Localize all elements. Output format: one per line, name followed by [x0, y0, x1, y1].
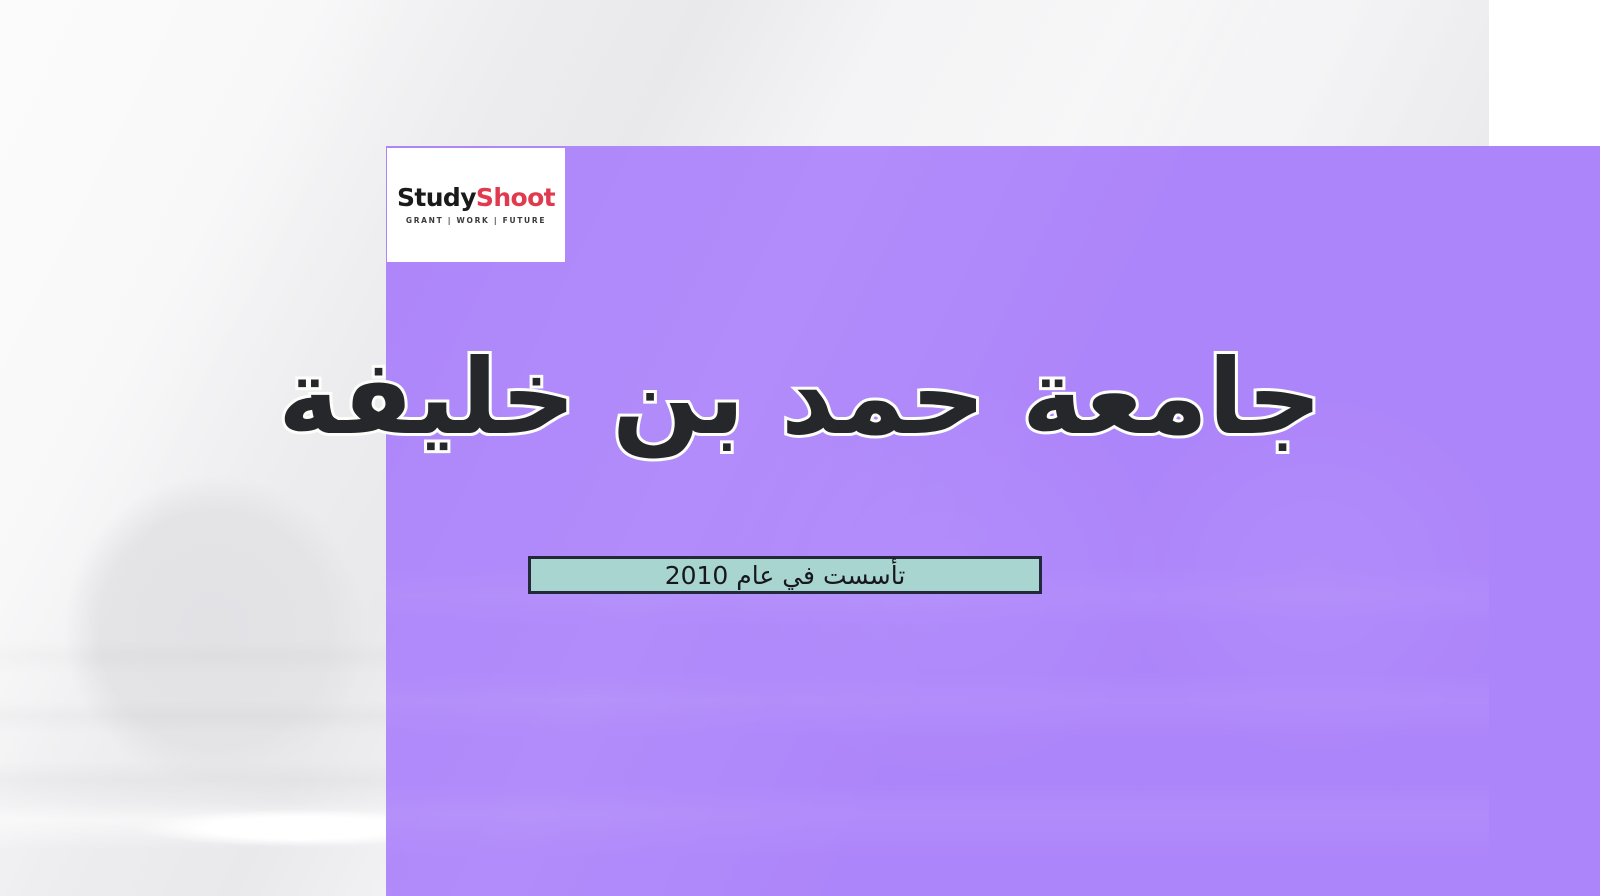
logo-word-study: Study — [397, 183, 476, 212]
founded-year-badge: تأسست في عام 2010 — [528, 556, 1042, 594]
page-title: جامعة حمد بن خليفة — [0, 338, 1600, 458]
logo-word-shoot: Shoot — [476, 183, 555, 212]
studyshoot-logo-card[interactable]: StudyShoot GRANT | WORK | FUTURE — [387, 148, 565, 262]
founded-year-text: تأسست في عام 2010 — [665, 563, 906, 588]
logo-tagline: GRANT | WORK | FUTURE — [406, 216, 546, 225]
logo-wordmark: StudyShoot — [397, 185, 555, 210]
purple-overlay-edge — [1489, 146, 1600, 896]
purple-overlay-panel — [386, 146, 1600, 896]
slide-canvas: StudyShoot GRANT | WORK | FUTURE جامعة ح… — [0, 0, 1600, 896]
